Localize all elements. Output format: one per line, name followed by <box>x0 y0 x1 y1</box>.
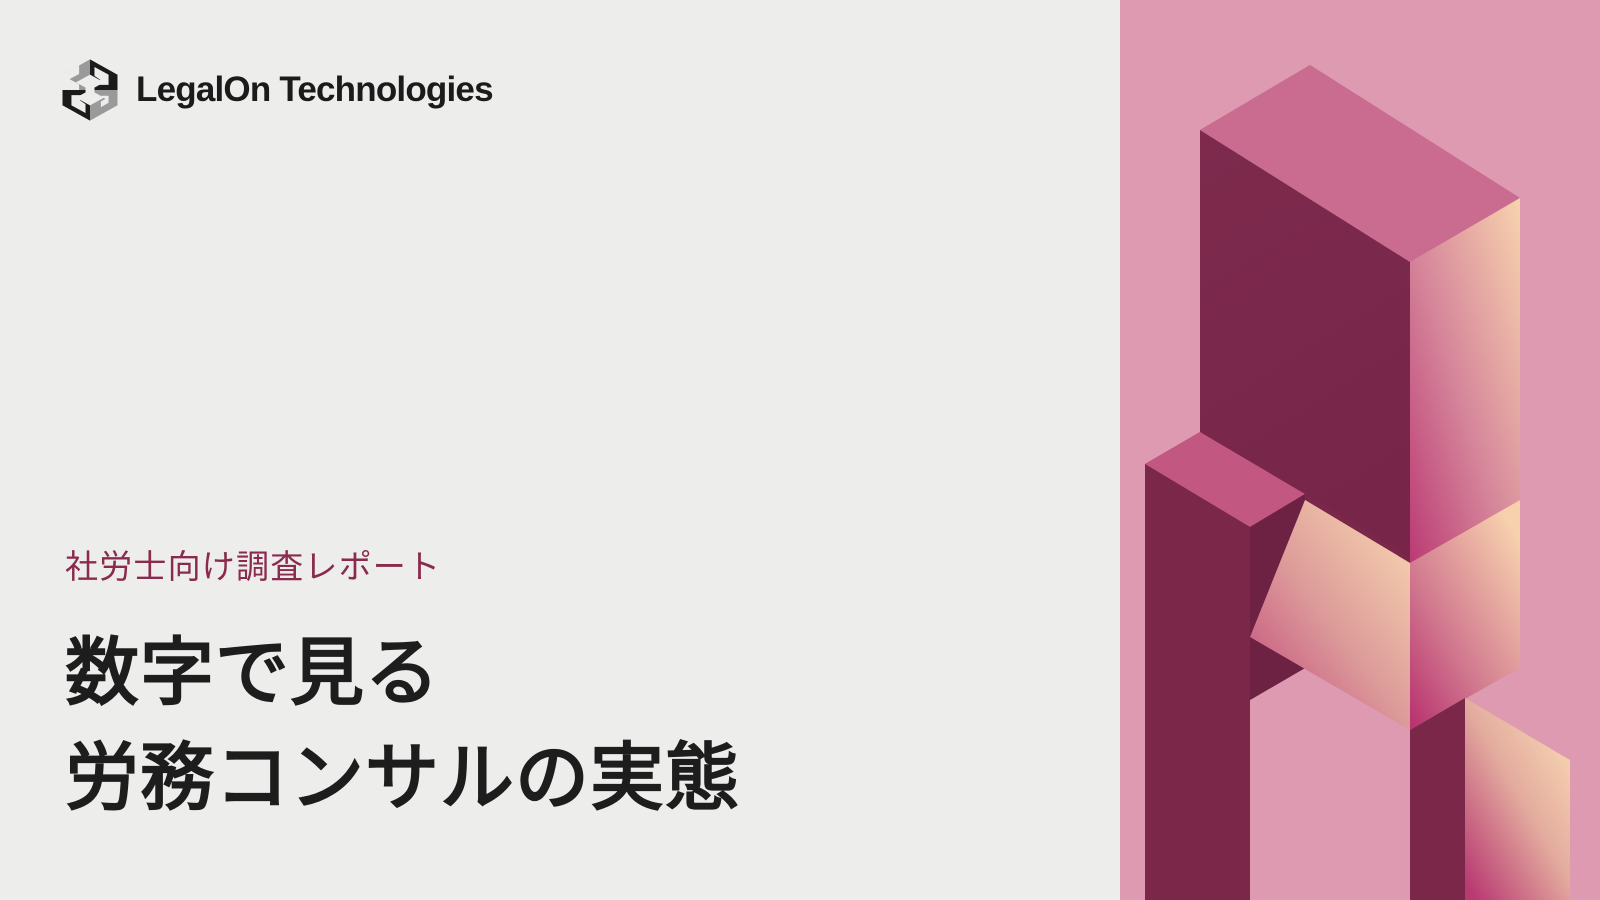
brand-lockup: LegalOn Technologies <box>58 58 493 122</box>
slide-canvas: LegalOn Technologies 社労士向け調査レポート 数字で見る 労… <box>0 0 1600 900</box>
report-eyebrow-label: 社労士向け調査レポート <box>65 548 1065 587</box>
page-title-line-1: 数字で見る <box>65 621 1065 726</box>
legalon-hexagon-logomark-icon <box>58 58 122 122</box>
headline-block: 社労士向け調査レポート 数字で見る 労務コンサルの実態 <box>65 548 1065 831</box>
page-title-line-2: 労務コンサルの実態 <box>65 726 1065 831</box>
artwork-panel <box>1120 0 1600 900</box>
page-title: 数字で見る 労務コンサルの実態 <box>65 621 1065 831</box>
brand-wordmark: LegalOn Technologies <box>136 72 493 109</box>
left-content-panel: LegalOn Technologies 社労士向け調査レポート 数字で見る 労… <box>0 0 1120 900</box>
isometric-blocks-graphic <box>1120 0 1600 900</box>
